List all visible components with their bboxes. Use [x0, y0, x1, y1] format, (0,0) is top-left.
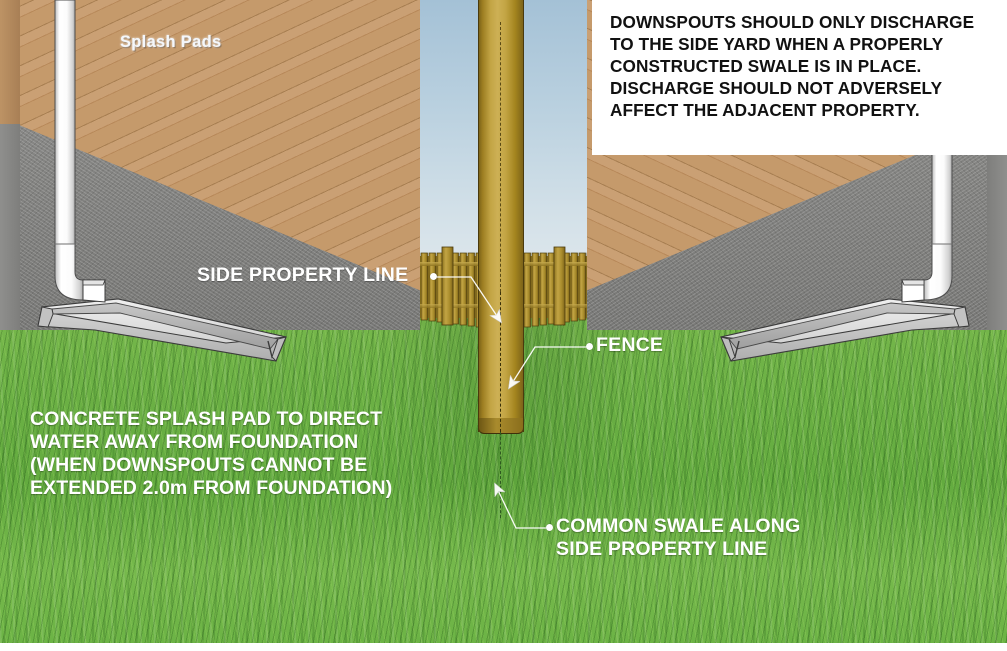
- left-house-return-foundation: [0, 124, 20, 330]
- property-line-upper: [500, 22, 501, 292]
- diagram-canvas: DOWNSPOUTS SHOULD ONLY DISCHARGE TO THE …: [0, 0, 1007, 651]
- property-line-lower: [500, 432, 501, 518]
- label-splash-pads: Splash Pads: [120, 33, 221, 52]
- property-line-middle: [500, 292, 501, 432]
- label-common-swale-line1: COMMON SWALE ALONG: [556, 515, 800, 537]
- splash-pad-note-line4: EXTENDED 2.0m FROM FOUNDATION): [30, 477, 392, 499]
- label-fence: FENCE: [596, 334, 663, 357]
- splash-pad-note-line3: (WHEN DOWNSPOUTS CANNOT BE: [30, 454, 367, 476]
- bullet-dot-common-swale: [546, 524, 553, 531]
- note-text: DOWNSPOUTS SHOULD ONLY DISCHARGE TO THE …: [610, 11, 990, 121]
- bullet-dot-side-property-line: [430, 273, 437, 280]
- label-common-swale: COMMON SWALE ALONGSIDE PROPERTY LINE: [556, 515, 800, 561]
- splash-pad-note-line1: CONCRETE SPLASH PAD TO DIRECT: [30, 408, 382, 430]
- label-common-swale-line2: SIDE PROPERTY LINE: [556, 538, 767, 560]
- splash-pad-note-line2: WATER AWAY FROM FOUNDATION: [30, 431, 358, 453]
- center-property-post: [478, 0, 524, 432]
- center-post-base: [478, 418, 524, 434]
- label-side-property-line: SIDE PROPERTY LINE: [197, 264, 408, 287]
- note-callout-box: DOWNSPOUTS SHOULD ONLY DISCHARGE TO THE …: [592, 0, 1007, 155]
- bottom-margin-strip: [0, 643, 1007, 651]
- label-concrete-splash-pad-note: CONCRETE SPLASH PAD TO DIRECTWATER AWAY …: [30, 408, 392, 500]
- bullet-dot-fence: [586, 343, 593, 350]
